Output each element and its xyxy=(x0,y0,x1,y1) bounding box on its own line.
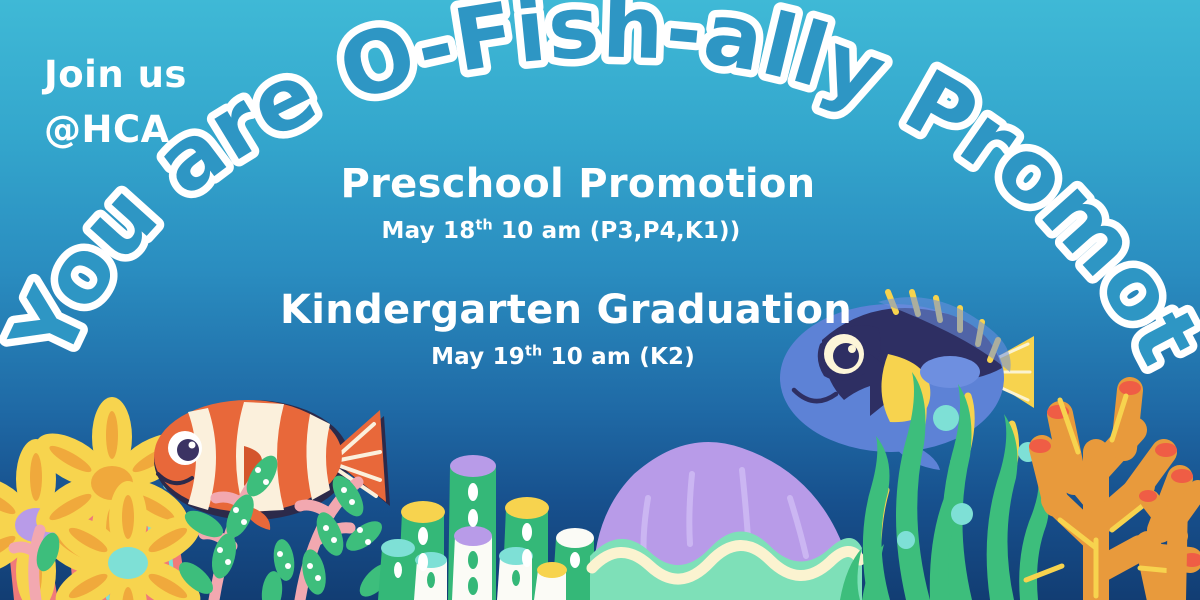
event-date-prefix: May 19 xyxy=(431,344,525,370)
event-block-preschool: Preschool Promotion May 18th 10 am (P3,P… xyxy=(0,162,1200,244)
event-date-suffix: 10 am (P3,P4,K1)) xyxy=(493,218,741,244)
event-title: Preschool Promotion xyxy=(0,162,1178,206)
event-date-prefix: May 18 xyxy=(382,218,476,244)
event-date-ordinal: th xyxy=(525,343,542,359)
poster-canvas: Join us @HCA You are O-Fish-ally Promote… xyxy=(0,0,1200,600)
event-date-suffix: 10 am (K2) xyxy=(542,344,695,370)
event-details: May 18th 10 am (P3,P4,K1)) xyxy=(0,218,1161,244)
text-layer: Join us @HCA You are O-Fish-ally Promote… xyxy=(0,0,1200,600)
event-block-kindergarten: Kindergarten Graduation May 19th 10 am (… xyxy=(0,288,1200,370)
event-date-ordinal: th xyxy=(475,217,492,233)
event-title: Kindergarten Graduation xyxy=(0,288,1166,332)
event-details: May 19th 10 am (K2) xyxy=(0,344,1163,370)
